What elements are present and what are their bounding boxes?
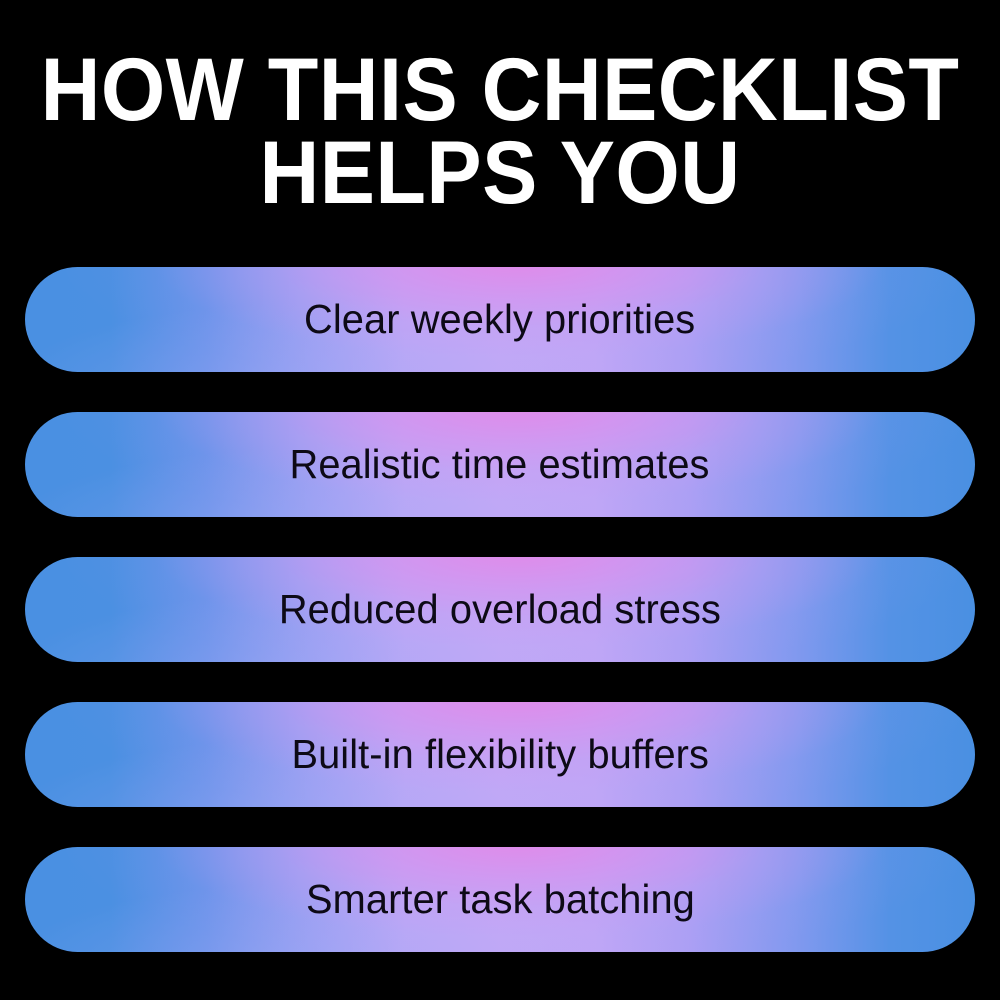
list-item[interactable]: Built-in flexibility buffers <box>25 702 975 807</box>
benefit-label-4: Built-in flexibility buffers <box>291 734 709 775</box>
poster-canvas: HOW THIS CHECKLIST HELPS YOU Clear weekl… <box>0 0 1000 1000</box>
page-title-line-2: HELPS YOU <box>35 131 965 214</box>
page-title-line-1: HOW THIS CHECKLIST <box>35 48 965 131</box>
benefit-label-5: Smarter task batching <box>306 879 695 920</box>
list-item[interactable]: Clear weekly priorities <box>25 267 975 372</box>
benefit-label-1: Clear weekly priorities <box>304 299 695 340</box>
page-title: HOW THIS CHECKLIST HELPS YOU <box>0 48 1000 214</box>
list-item[interactable]: Smarter task batching <box>25 847 975 952</box>
benefit-label-2: Realistic time estimates <box>290 444 710 485</box>
list-item[interactable]: Reduced overload stress <box>25 557 975 662</box>
benefits-list: Clear weekly priorities Realistic time e… <box>25 267 975 952</box>
benefit-label-3: Reduced overload stress <box>279 589 721 630</box>
list-item[interactable]: Realistic time estimates <box>25 412 975 517</box>
